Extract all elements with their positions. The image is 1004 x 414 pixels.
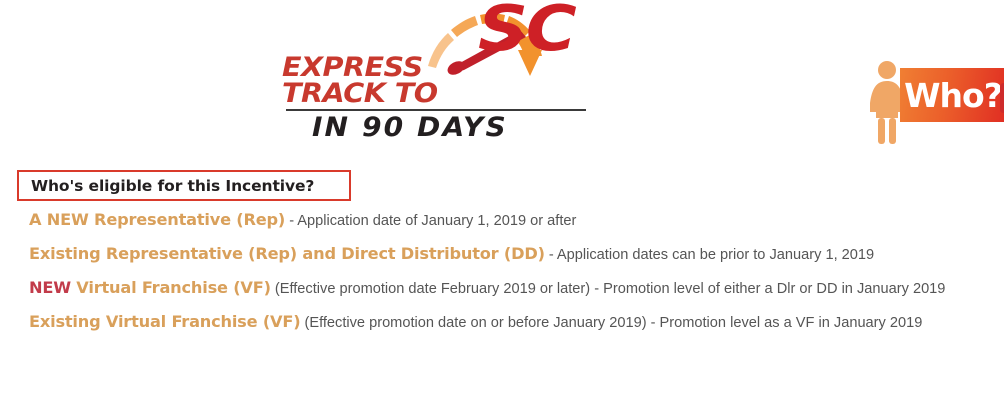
list-item: Existing Representative (Rep) and Direct… [29, 243, 969, 266]
header-banner: EXPRESS TRACK TO SC IN 90 DAYS Who? [0, 0, 1004, 158]
eligible-heading-box: Who's eligible for this Incentive? [17, 170, 351, 201]
page-title: Who's eligible for this Incentive? [31, 177, 314, 195]
eligibility-description: (Effective promotion date on or before J… [300, 315, 922, 331]
eligibility-term-accent: NEW [29, 278, 71, 297]
eligibility-term: Existing Representative (Rep) and Direct… [29, 244, 545, 263]
list-item: A NEW Representative (Rep) - Application… [29, 209, 969, 232]
list-item: NEW Virtual Franchise (VF) (Effective pr… [29, 277, 969, 300]
male-figure-icon [998, 60, 1004, 146]
eligibility-term: A NEW Representative (Rep) [29, 210, 285, 229]
eligibility-term: Virtual Franchise (VF) [71, 278, 271, 297]
wordmark-line-express: EXPRESS [282, 54, 423, 81]
list-item: Existing Virtual Franchise (VF) (Effecti… [29, 311, 969, 334]
who-badge-group: Who? [867, 56, 1004, 148]
who-badge: Who? [900, 68, 1004, 122]
eligibility-description: - Application dates can be prior to Janu… [545, 247, 874, 263]
wordmark-line-track-to: TRACK TO [282, 80, 438, 107]
eligibility-description: (Effective promotion date February 2019 … [271, 281, 946, 297]
eligibility-list: A NEW Representative (Rep) - Application… [29, 209, 969, 345]
wordmark-sc: SC [478, 0, 574, 60]
who-badge-label: Who? [904, 79, 1002, 112]
eligibility-description: - Application date of January 1, 2019 or… [285, 213, 576, 229]
wordmark-divider-rule [286, 109, 586, 111]
express-track-logo: EXPRESS TRACK TO SC IN 90 DAYS Who? [282, 4, 772, 154]
wordmark-tagline: IN 90 DAYS [312, 114, 508, 141]
eligibility-term: Existing Virtual Franchise (VF) [29, 312, 300, 331]
